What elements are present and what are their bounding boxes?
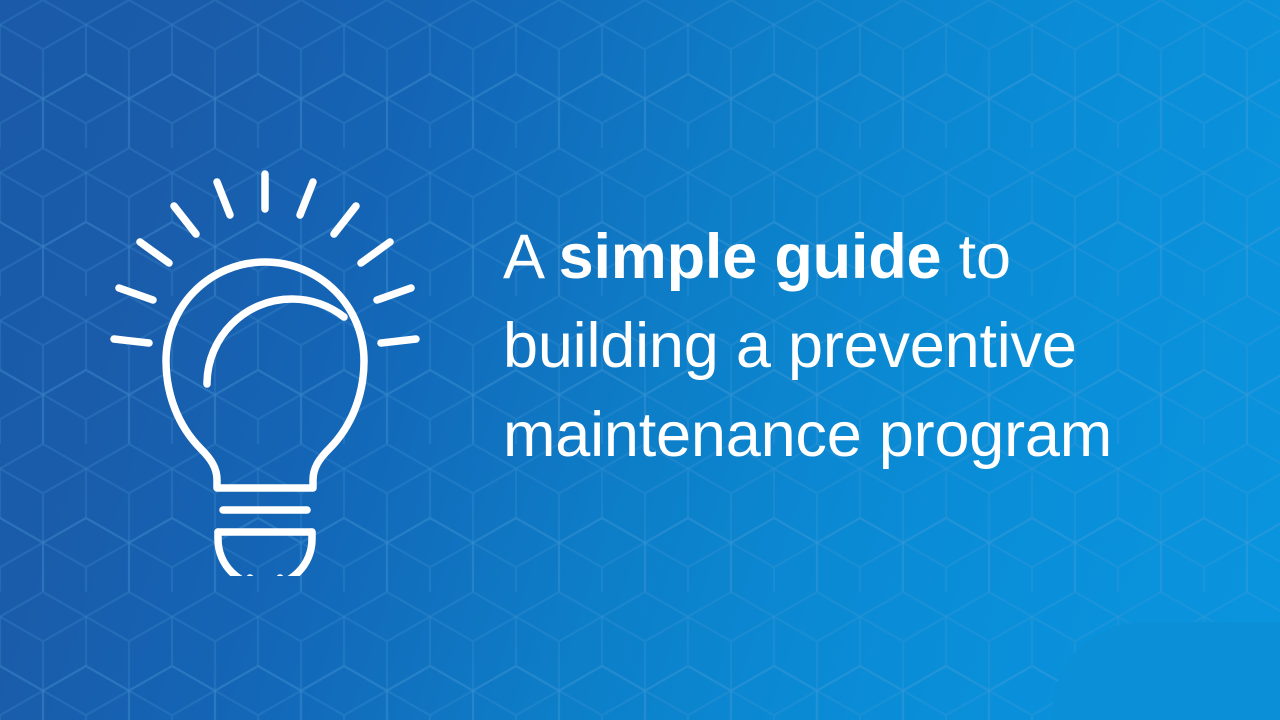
headline-line-1: A simple guide to xyxy=(503,213,1203,302)
corner-accent-panel xyxy=(1052,622,1280,720)
headline-line-2: building a preventive xyxy=(503,302,1203,391)
lightbulb-icon xyxy=(100,146,430,576)
hero-banner: A simple guide to building a preventive … xyxy=(0,0,1280,720)
headline-line-1-suffix: to xyxy=(941,222,1010,292)
page-title: A simple guide to building a preventive … xyxy=(503,213,1203,480)
headline-emphasis: simple guide xyxy=(559,222,942,292)
headline-line-3: maintenance program xyxy=(503,391,1203,480)
headline-line-1-prefix: A xyxy=(503,222,559,292)
